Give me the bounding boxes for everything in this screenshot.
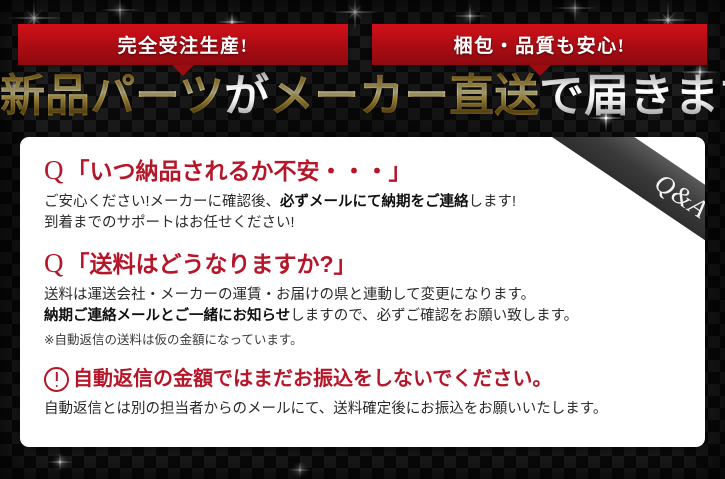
warning-block: 自動返信の金額ではまだお振込をしないでください。 自動返信とは別の担当者からのメ… <box>44 365 681 420</box>
qa-item-2: Q「送料はどうなりますか?」 送料は運送会社・メーカーの運賃・お届けの県と連動し… <box>44 248 681 350</box>
headline-part-3: メーカー直送 <box>269 70 539 121</box>
qa-panel: Q&A Q「いつ納品されるか不安・・・」 ご安心ください!メーカーに確認後、必ず… <box>20 137 705 447</box>
answer-1-line-1-emphasis: 必ずメールにて納期をご連絡 <box>280 194 469 210</box>
badge-left-label: 完全受注生産! <box>118 31 249 58</box>
answer-1-line-1-part-b: します! <box>469 194 517 210</box>
answer-1-line-1-part-a: ご安心ください!メーカーに確認後、 <box>44 194 280 210</box>
promo-banner: 完全受注生産! 梱包・品質も安心! 新品パーツがメーカー直送で届きます! Q&A… <box>0 0 725 479</box>
question-1: Q「いつ納品されるか不安・・・」 <box>44 155 681 186</box>
qa-item-1: Q「いつ納品されるか不安・・・」 ご安心ください!メーカーに確認後、必ずメールに… <box>44 155 681 234</box>
question-2-text: 「送料はどうなりますか?」 <box>67 251 357 277</box>
question-2-marker: Q <box>44 248 67 278</box>
answer-2-line-2-emphasis: 納期ご連絡メールとご一緒にお知らせ <box>44 308 290 324</box>
answer-1-line-1: ご安心ください!メーカーに確認後、必ずメールにて納期をご連絡します! <box>44 192 681 213</box>
badge-packaging-quality: 梱包・品質も安心! <box>372 24 707 65</box>
question-1-text: 「いつ納品されるか不安・・・」 <box>67 158 412 184</box>
warning-headline: 自動返信の金額ではまだお振込をしないでください。 <box>44 365 681 393</box>
headline-part-4: で届きます! <box>539 70 725 121</box>
answer-2-line-2-plain: しますので、必ずご確認をお願い致します。 <box>290 308 578 324</box>
warning-detail: 自動返信とは別の担当者からのメールにて、送料確定後にお振込をお願いいたします。 <box>44 399 681 420</box>
headline-part-1: 新品パーツ <box>0 70 224 121</box>
badge-right-label: 梱包・品質も安心! <box>454 31 626 58</box>
answer-2-line-2: 納期ご連絡メールとご一緒にお知らせしますので、必ずご確認をお願い致します。 <box>44 306 681 327</box>
answer-2-line-1: 送料は運送会社・メーカーの運賃・お届けの県と連動して変更になります。 <box>44 285 681 306</box>
headline-part-2: が <box>224 70 269 121</box>
exclamation-circle-icon <box>44 367 69 392</box>
answer-2-note: ※自動返信の送料は仮の金額になっています。 <box>44 331 681 350</box>
warning-text: 自動返信の金額ではまだお振込をしないでください。 <box>73 365 552 393</box>
answer-1-line-2: 到着までのサポートはお任せください! <box>44 213 681 234</box>
headline: 新品パーツがメーカー直送で届きます! <box>0 68 725 124</box>
badge-made-to-order: 完全受注生産! <box>18 24 348 65</box>
question-2: Q「送料はどうなりますか?」 <box>44 248 681 279</box>
question-1-marker: Q <box>44 155 67 185</box>
